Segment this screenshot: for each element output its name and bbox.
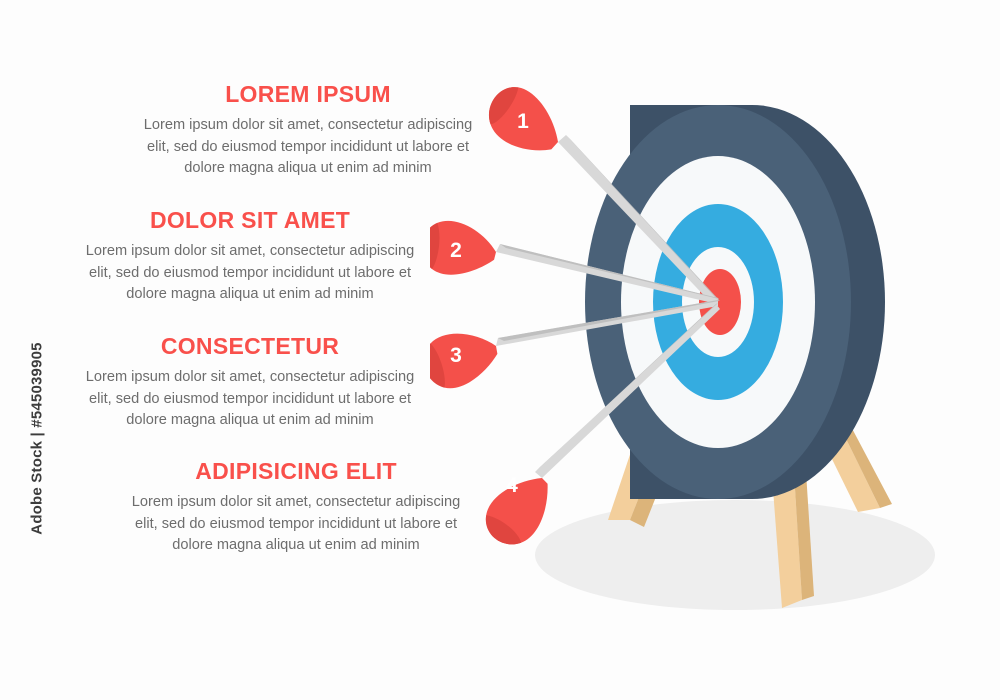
dart-number-3: 3 [450,344,462,367]
target-bullseye-red [699,269,741,335]
info-block-3-body-line-2: elit, sed do eiusmod tempor incididunt u… [40,389,460,410]
dart-marker-1[interactable]: 1 [477,80,570,168]
target-board [585,105,885,499]
info-block-3-body-line-3: dolore magna aliqua ut enim ad minim [40,410,460,431]
info-block-3-body: Lorem ipsum dolor sit amet, consectetur … [40,367,460,431]
info-block-3: CONSECTETUR Lorem ipsum dolor sit amet, … [40,334,460,431]
info-block-2-title: DOLOR SIT AMET [40,208,460,232]
info-block-3-body-line-1: Lorem ipsum dolor sit amet, consectetur … [40,367,460,388]
info-block-2: DOLOR SIT AMET Lorem ipsum dolor sit ame… [40,208,460,305]
dart-number-1: 1 [517,110,529,133]
infographic-canvas: Adobe Stock | #545039905 LOREM IPSUM Lor… [0,0,1000,700]
dart-marker-2[interactable]: 2 [430,215,501,285]
info-block-2-body: Lorem ipsum dolor sit amet, consectetur … [40,241,460,305]
dart-flight-2-shape [430,215,501,285]
info-block-3-title: CONSECTETUR [40,334,460,358]
info-block-2-body-line-2: elit, sed do eiusmod tempor incididunt u… [40,263,460,284]
info-block-2-body-line-3: dolore magna aliqua ut enim ad minim [40,284,460,305]
dart-marker-3[interactable]: 3 [430,327,502,393]
dart-number-2: 2 [450,239,462,262]
info-block-2-body-line-1: Lorem ipsum dolor sit amet, consectetur … [40,241,460,262]
ground-shadow-ellipse [535,500,935,610]
archery-target-illustration: 1 2 3 [430,80,1000,650]
dart-number-4: 4 [506,474,518,497]
